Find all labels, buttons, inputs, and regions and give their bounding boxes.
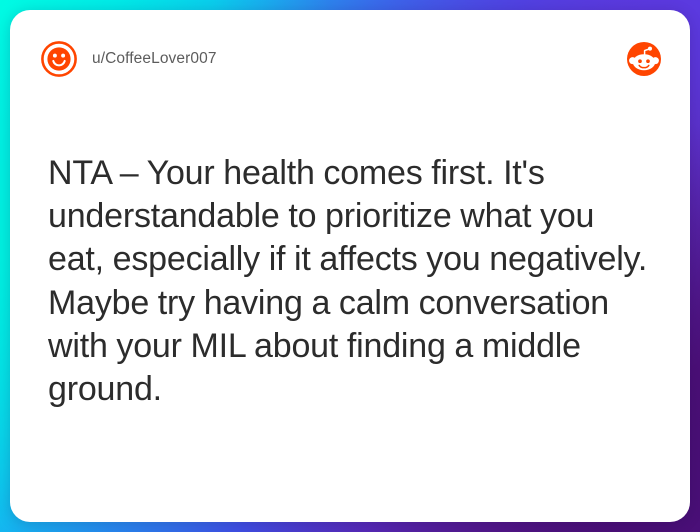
reddit-snoo-logo-icon[interactable] — [626, 41, 662, 77]
reddit-comment-card: u/CoffeeLover007 — [10, 10, 690, 522]
comment-text: NTA – Your health comes first. It's unde… — [48, 152, 654, 411]
username-label: u/CoffeeLover007 — [92, 50, 217, 68]
screenshot-stage: u/CoffeeLover007 — [0, 0, 700, 532]
avatar[interactable] — [40, 40, 78, 78]
card-body: NTA – Your health comes first. It's unde… — [10, 108, 690, 411]
card-header: u/CoffeeLover007 — [10, 10, 690, 108]
